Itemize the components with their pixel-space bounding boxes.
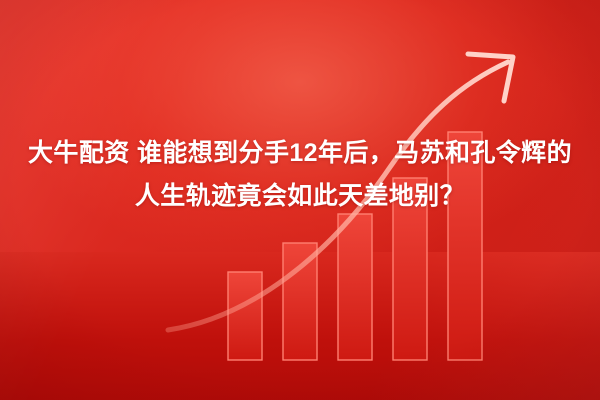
promo-banner: 大牛配资 谁能想到分手12年后，马苏和孔令辉的人生轨迹竟会如此天差地别？ (0, 0, 600, 400)
headline-line-2: 人生轨迹竟会如此天差地别？ (135, 182, 465, 210)
page-title: 大牛配资 谁能想到分手12年后，马苏和孔令辉的人生轨迹竟会如此天差地别？ (0, 132, 600, 218)
headline-line-1: 大牛配资 谁能想到分手12年后，马苏和孔令辉的 (28, 139, 572, 167)
